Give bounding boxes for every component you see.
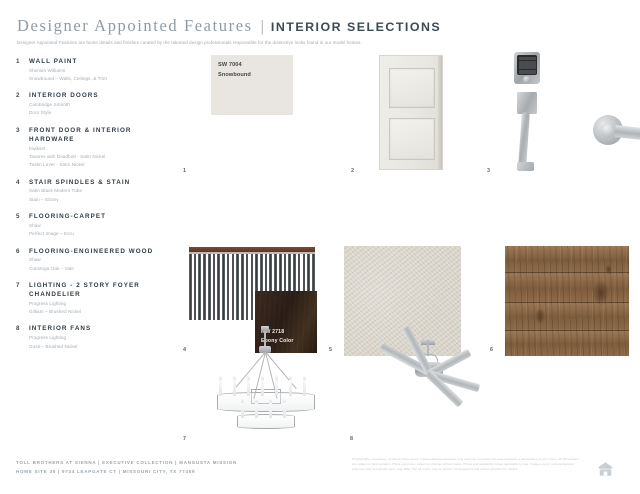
chandelier-flame <box>303 375 306 380</box>
item-brand: Shaw <box>29 257 176 264</box>
ceiling-fan-image <box>363 340 493 418</box>
interior-lever-handle-image <box>593 113 640 147</box>
item-title: FRONT DOOR & INTERIOR HARDWARE <box>29 126 176 144</box>
item-number: 1 <box>16 57 29 83</box>
chandelier-flame-lower <box>283 398 286 403</box>
paint-swatch-label: SW 7004 Snowbound <box>218 61 251 81</box>
panel-number-1: 1 <box>183 168 186 174</box>
wood-knot <box>593 280 609 306</box>
item-brand: Shaw <box>29 223 176 230</box>
list-item: 5 FLOORING-CARPET Shaw Perfect Image – E… <box>16 212 176 238</box>
panel-number-3: 3 <box>487 168 490 174</box>
item-number: 4 <box>16 178 29 204</box>
item-title: FLOORING-CARPET <box>29 212 176 221</box>
chandelier-candle <box>261 380 264 396</box>
chandelier-outer-ring <box>217 392 315 412</box>
chandelier-candle <box>219 380 222 396</box>
item-detail: Constoga Oak – Vale <box>29 266 176 273</box>
panel-number-4: 4 <box>183 347 186 353</box>
panel-number-8: 8 <box>350 436 353 442</box>
chandelier-candle <box>303 380 306 396</box>
wood-knot <box>605 264 612 275</box>
page-header: Designer Appointed Features | INTERIOR S… <box>17 16 623 46</box>
chandelier-candle <box>247 380 250 396</box>
chandelier-stem <box>264 331 266 347</box>
chandelier-flame <box>247 375 250 380</box>
item-number: 2 <box>16 91 29 117</box>
chandelier-candle <box>289 380 292 396</box>
item-number: 3 <box>16 126 29 169</box>
keypad-deadbolt-icon <box>514 52 540 84</box>
item-detail: Gusti – Brushed Nickel <box>29 344 176 351</box>
item-detail: Gilliam – Brushed Nickel <box>29 309 176 316</box>
item-brand: Satin Black Modern Tube <box>29 188 176 195</box>
item-detail-2: Tustin Lever - Satin Nickel <box>29 162 176 169</box>
page-footer: TOLL BROTHERS AT SIENNA | EXECUTIVE COLL… <box>0 454 640 494</box>
item-title: INTERIOR DOORS <box>29 91 176 100</box>
chandelier-flame-lower <box>255 398 258 403</box>
door-edge <box>438 56 442 169</box>
panel-number-5: 5 <box>329 347 332 353</box>
selections-list: 1 WALL PAINT Sherwin Williams Snowbound … <box>16 57 176 359</box>
item-brand: Progress Lighting <box>29 335 176 342</box>
equal-housing-opportunity-icon <box>596 460 615 478</box>
door-panel-top <box>389 68 435 108</box>
chandelier-candle <box>233 380 236 396</box>
footer-line-2: HOME SITE 35 | 9734 LEAPGATE CT | MISSOU… <box>16 468 237 477</box>
chandelier-flame <box>219 375 222 380</box>
item-title: FLOORING-ENGINEERED WOOD <box>29 247 176 256</box>
title-secondary: INTERIOR SELECTIONS <box>271 20 441 34</box>
list-item: 3 FRONT DOOR & INTERIOR HARDWARE Kwikset… <box>16 126 176 169</box>
chandelier-inner-ring <box>237 414 295 429</box>
grip-bottom-plate <box>517 162 534 171</box>
item-number: 8 <box>16 324 29 350</box>
list-item: 7 LIGHTING - 2 STORY FOYER CHANDELIER Pr… <box>16 281 176 316</box>
item-title: INTERIOR FANS <box>29 324 176 333</box>
list-item: 2 INTERIOR DOORS Cambridge Smooth Door S… <box>16 91 176 117</box>
chandelier-candle-lower <box>269 403 272 418</box>
foyer-chandelier-image <box>211 326 319 436</box>
item-brand: Kwikset <box>29 146 176 153</box>
item-detail: Stain – Ebony <box>29 197 176 204</box>
chandelier-flame <box>233 375 236 380</box>
panel-number-2: 2 <box>351 168 354 174</box>
list-item: 1 WALL PAINT Sherwin Williams Snowbound … <box>16 57 176 83</box>
chandelier-candle <box>275 380 278 396</box>
chandelier-flame <box>261 375 264 380</box>
list-item: 4 STAIR SPINDLES & STAIN Satin Black Mod… <box>16 178 176 204</box>
item-brand: Progress Lighting <box>29 301 176 308</box>
item-number: 6 <box>16 247 29 273</box>
wood-grain-texture <box>505 246 629 356</box>
footer-line-1: TOLL BROTHERS AT SIENNA | EXECUTIVE COLL… <box>16 459 237 468</box>
paint-name: Snowbound <box>218 71 251 81</box>
item-number: 5 <box>16 212 29 238</box>
paint-code: SW 7004 <box>218 61 251 71</box>
item-number: 7 <box>16 281 29 316</box>
chandelier-flame-lower <box>241 398 244 403</box>
title-divider: | <box>261 18 264 36</box>
chandelier-candle-lower <box>255 403 258 418</box>
item-title: WALL PAINT <box>29 57 176 66</box>
list-item: 6 FLOORING-ENGINEERED WOOD Shaw Constoga… <box>16 247 176 273</box>
item-detail: Perfect Image – Ecru <box>29 231 176 238</box>
lever-hub <box>601 123 615 137</box>
page-title: Designer Appointed Features | INTERIOR S… <box>17 16 623 36</box>
item-detail: Door Style <box>29 110 176 117</box>
chandelier-flame <box>289 375 292 380</box>
selections-image-grid: SW 7004 Snowbound 1 2 <box>183 50 629 445</box>
footer-disclaimer: Photographs, renderings, and floor plans… <box>352 457 584 471</box>
item-detail: Tavares with Deadbolt - Satin Nickel <box>29 154 176 161</box>
chandelier-candle-lower <box>283 403 286 418</box>
chandelier-flame <box>275 375 278 380</box>
grip-top-plate <box>517 92 537 114</box>
door-grip-handle <box>512 92 542 170</box>
wood-knot <box>535 308 545 324</box>
item-brand: Sherwin Williams <box>29 68 176 75</box>
panel-number-7: 7 <box>183 436 186 442</box>
list-item: 8 INTERIOR FANS Progress Lighting Gusti … <box>16 324 176 350</box>
key-cylinder <box>523 76 531 83</box>
footer-community-info: TOLL BROTHERS AT SIENNA | EXECUTIVE COLL… <box>16 459 237 477</box>
item-detail: Snowbound – Walls, Ceilings, & Trim <box>29 76 176 83</box>
grip-bar <box>518 112 530 168</box>
item-title: LIGHTING - 2 STORY FOYER CHANDELIER <box>29 281 176 299</box>
chandelier-candle-lower <box>241 403 244 418</box>
door-panel-bottom <box>389 118 435 160</box>
page-subtitle: Designer Appointed Features are home det… <box>17 40 623 46</box>
item-title: STAIR SPINDLES & STAIN <box>29 178 176 187</box>
brochure-page: Designer Appointed Features | INTERIOR S… <box>0 0 640 494</box>
chandelier-flame-lower <box>269 398 272 403</box>
item-brand: Cambridge Smooth <box>29 102 176 109</box>
keypad-buttons <box>519 57 536 74</box>
interior-door-image <box>379 55 443 170</box>
engineered-wood-image <box>505 246 629 356</box>
front-door-handleset-image <box>508 52 548 177</box>
title-primary: Designer Appointed Features <box>17 16 253 36</box>
